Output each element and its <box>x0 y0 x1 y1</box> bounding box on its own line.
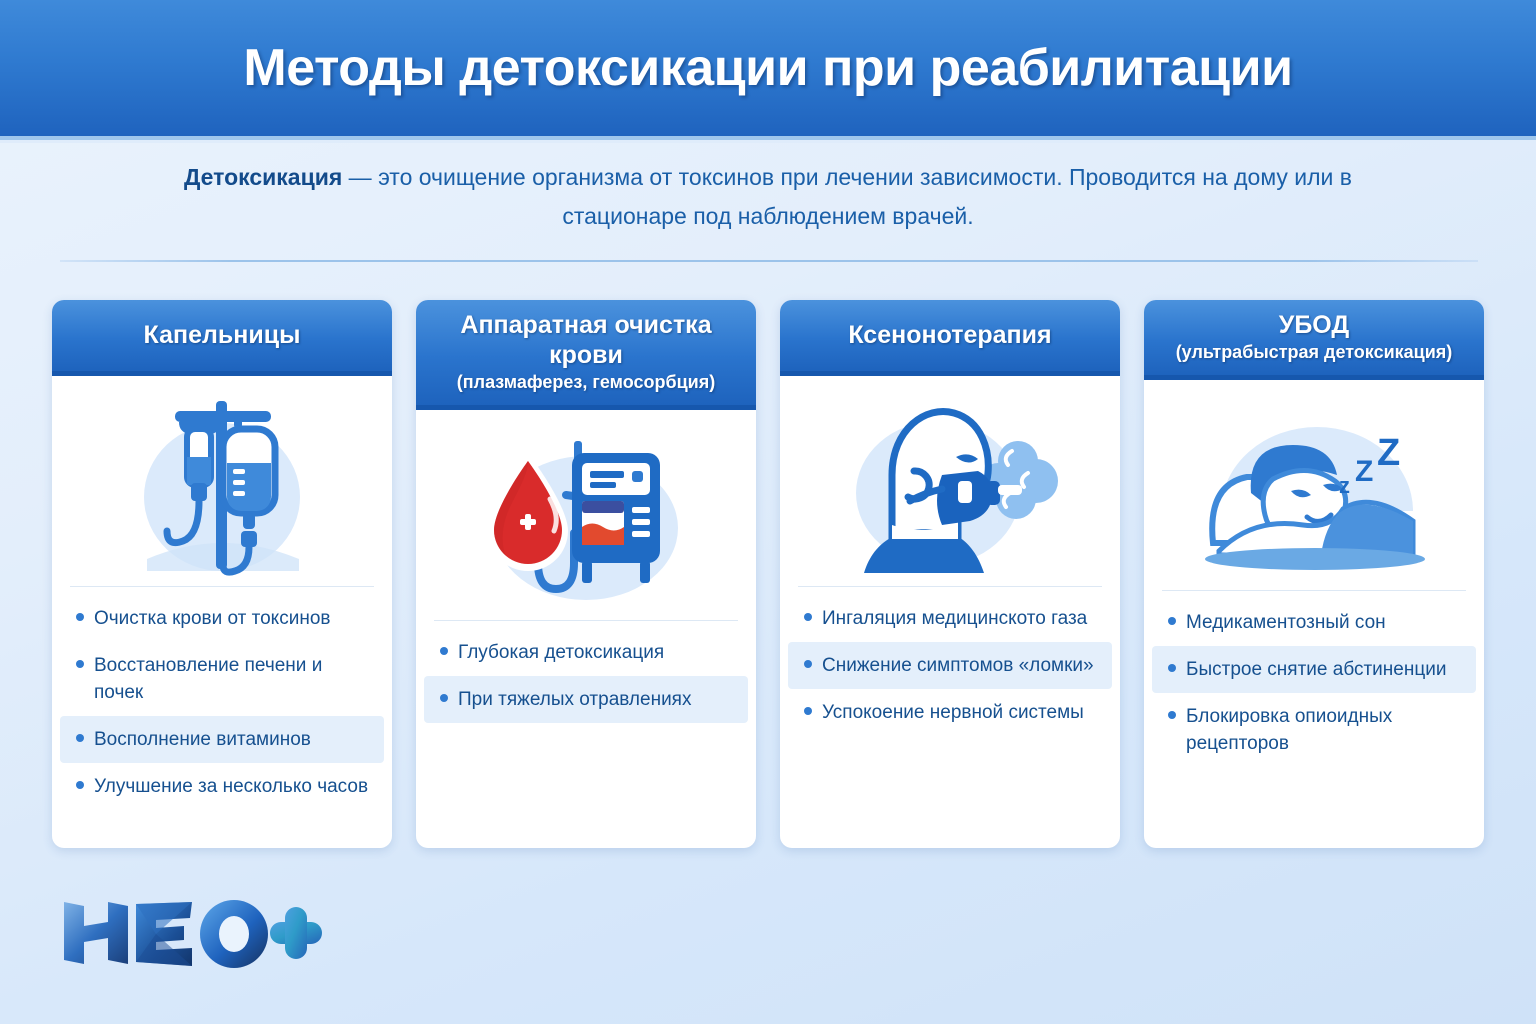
list-item: Восполнение витаминов <box>60 716 384 763</box>
card-subtitle: (ультрабыстрая детоксикация) <box>1176 340 1453 364</box>
page-title: Методы детоксикации при реабилитации <box>243 38 1292 98</box>
card-divider <box>434 620 738 621</box>
svg-text:z: z <box>1339 473 1350 498</box>
card-divider <box>1162 590 1466 591</box>
section-divider <box>60 260 1478 262</box>
card-kapelnitsy[interactable]: Капельницы <box>52 300 392 848</box>
card-subtitle: (плазмаферез, гемосорбция) <box>457 370 715 394</box>
card-header: УБОД (ультрабыстрая детоксикация) <box>1144 300 1484 380</box>
list-item: Быстрое снятие абстиненции <box>1152 646 1476 693</box>
list-item: При тяжелых отравлениях <box>424 676 748 723</box>
page-header: Методы детоксикации при реабилитации <box>0 0 1536 136</box>
blood-purification-icon-svg <box>466 423 706 613</box>
neo-plus-logo[interactable] <box>58 888 308 978</box>
neo-plus-logo-svg <box>58 888 308 978</box>
card-benefit-list: Глубокая детоксикация При тяжелых отравл… <box>416 629 756 737</box>
inhalation-mask-icon-svg <box>830 389 1070 579</box>
list-item: Улучшение за несколько часов <box>60 763 384 810</box>
svg-text:Z: Z <box>1377 432 1400 474</box>
card-benefit-list: Ингаляция медицинското газа Снижение сим… <box>780 595 1120 750</box>
card-divider <box>70 586 374 587</box>
method-cards: Капельницы <box>52 300 1484 848</box>
card-title: Ксенонотерапия <box>848 320 1051 350</box>
card-title: Капельницы <box>144 320 301 350</box>
iv-drip-icon <box>52 376 392 586</box>
card-header: Аппаратная очистка крови (плазмаферез, г… <box>416 300 756 410</box>
card-ksenonoterapiya[interactable]: Ксенонотерапия <box>780 300 1120 848</box>
card-divider <box>798 586 1102 587</box>
list-item: Снижение симптомов «ломки» <box>788 642 1112 689</box>
card-title: УБОД <box>1279 310 1349 340</box>
card-benefit-list: Медикаментозный сон Быстрое снятие абсти… <box>1144 599 1484 781</box>
blood-purification-icon <box>416 410 756 620</box>
intro-block: Детоксикация — это очищение организма от… <box>0 158 1536 236</box>
card-header: Капельницы <box>52 300 392 376</box>
list-item: Медикаментозный сон <box>1152 599 1476 646</box>
sleeping-patient-icon-svg: z Z Z <box>1189 393 1439 583</box>
list-item: Восстановление печени и почек <box>60 642 384 716</box>
intro-lead: Детоксикация <box>184 164 342 190</box>
card-ubod[interactable]: УБОД (ультрабыстрая детоксикация) <box>1144 300 1484 848</box>
card-benefit-list: Очистка крови от токсинов Восстановление… <box>52 595 392 824</box>
svg-text:Z: Z <box>1355 455 1373 488</box>
list-item: Очистка крови от токсинов <box>60 595 384 642</box>
iv-drip-icon-svg <box>117 389 327 579</box>
card-title: Аппаратная очистка крови <box>426 310 746 370</box>
list-item: Ингаляция медицинското газа <box>788 595 1112 642</box>
inhalation-mask-icon <box>780 376 1120 586</box>
intro-text: — это очищение организма от токсинов при… <box>342 164 1352 229</box>
header-rule-lower <box>0 140 1536 143</box>
card-apparatnaya-ochistka[interactable]: Аппаратная очистка крови (плазмаферез, г… <box>416 300 756 848</box>
card-header: Ксенонотерапия <box>780 300 1120 376</box>
list-item: Блокировка опиоидных рецепторов <box>1152 693 1476 767</box>
list-item: Глубокая детоксикация <box>424 629 748 676</box>
sleeping-patient-icon: z Z Z <box>1144 380 1484 590</box>
list-item: Успокоение нервной системы <box>788 689 1112 736</box>
intro-paragraph: Детоксикация — это очищение организма от… <box>178 158 1358 236</box>
